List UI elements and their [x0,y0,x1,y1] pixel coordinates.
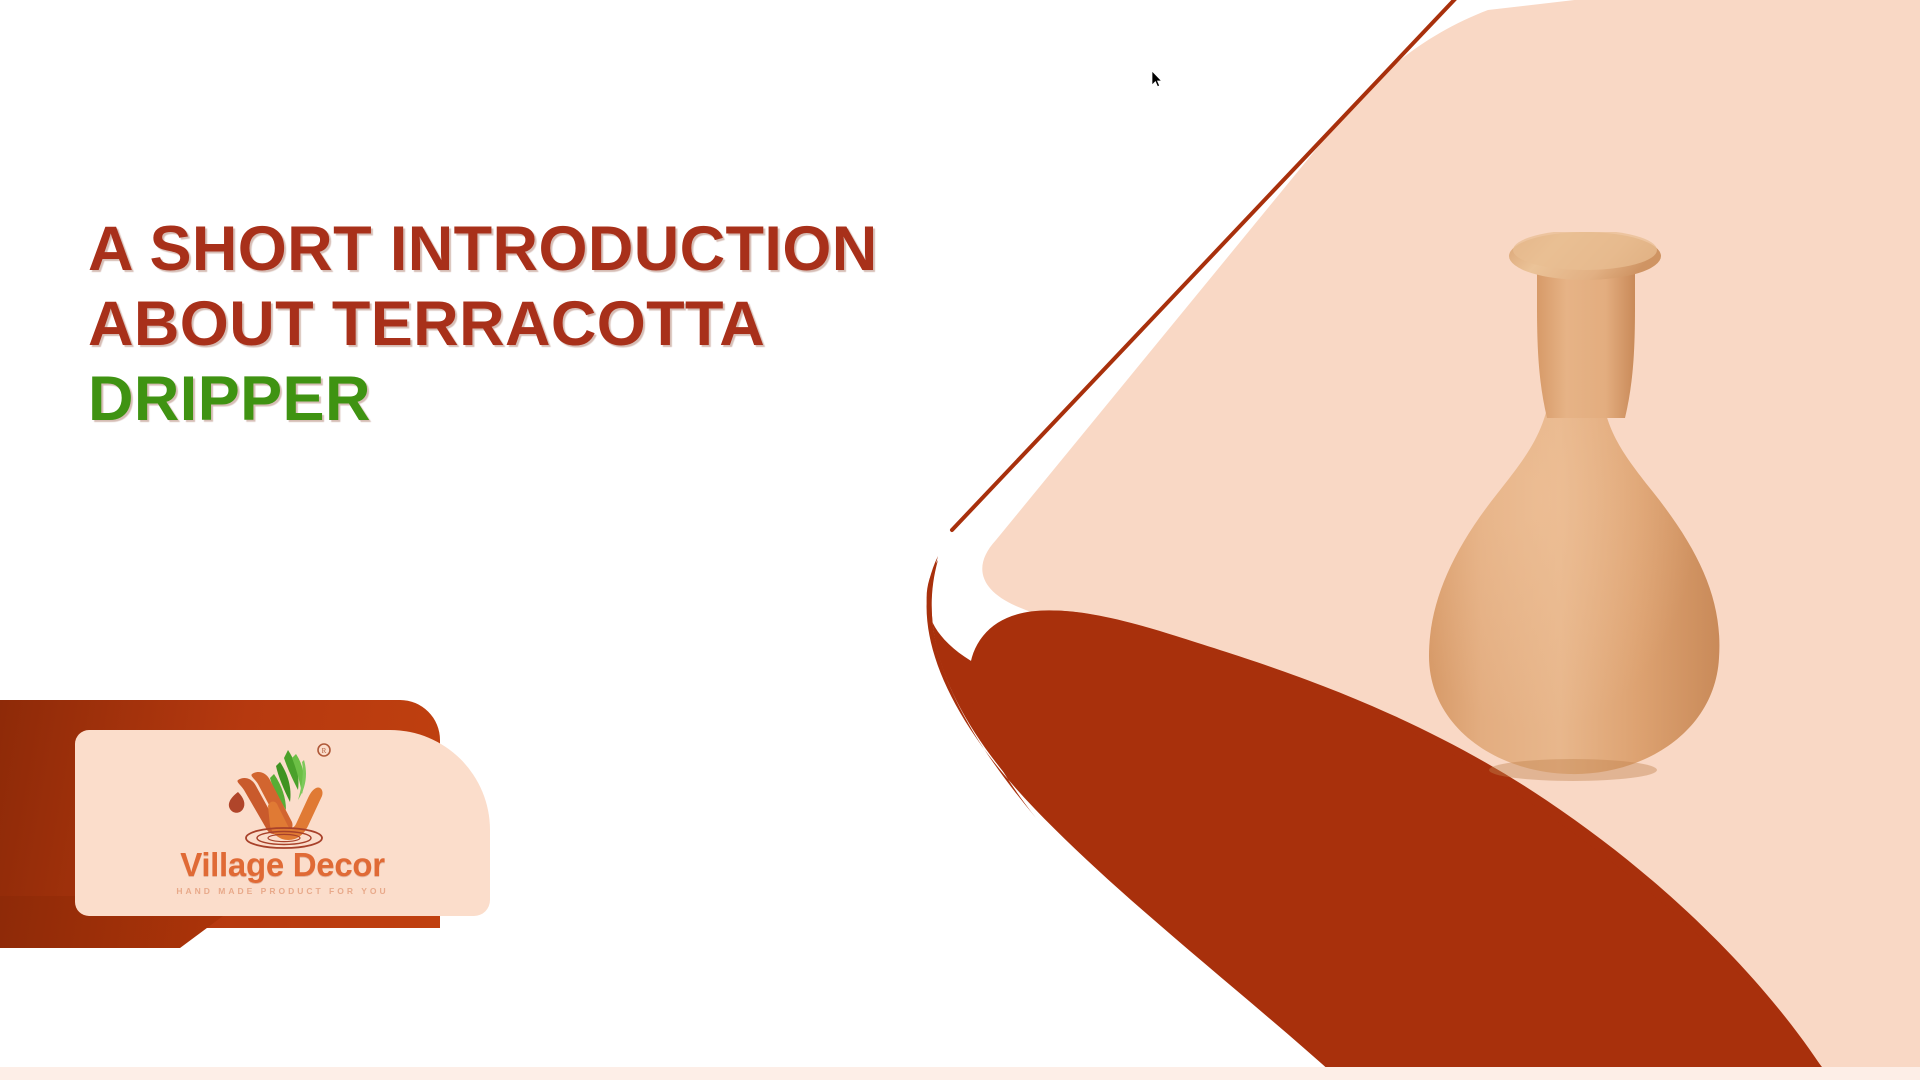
pot-base-shadow [1489,759,1657,781]
page-title: A SHORT INTRODUCTION ABOUT TERRACOTTA DR… [88,212,1128,437]
brand-tagline: HAND MADE PRODUCT FOR YOU [176,886,388,896]
logo-content: R Village Decor HAND MADE PROD [75,730,490,916]
water-droplet-icon [228,792,244,813]
svg-text:R: R [321,747,326,755]
bottom-accent-band [0,1067,1920,1080]
headline-line-1: A SHORT INTRODUCTION [88,212,1128,287]
terracotta-pot-image [1385,232,1805,832]
headline-line-2: ABOUT TERRACOTTA [88,287,1128,362]
headline-line-3: DRIPPER [88,362,1128,437]
mouse-pointer-icon [1151,70,1163,88]
brand-logo-block[interactable]: R Village Decor HAND MADE PROD [0,700,530,965]
pot-neck [1537,270,1635,418]
brand-name: Village Decor [180,848,385,881]
registered-trademark-icon: R [318,744,330,756]
presentation-slide: A SHORT INTRODUCTION ABOUT TERRACOTTA DR… [0,0,1920,1080]
village-decor-mark-icon: R [208,740,358,852]
